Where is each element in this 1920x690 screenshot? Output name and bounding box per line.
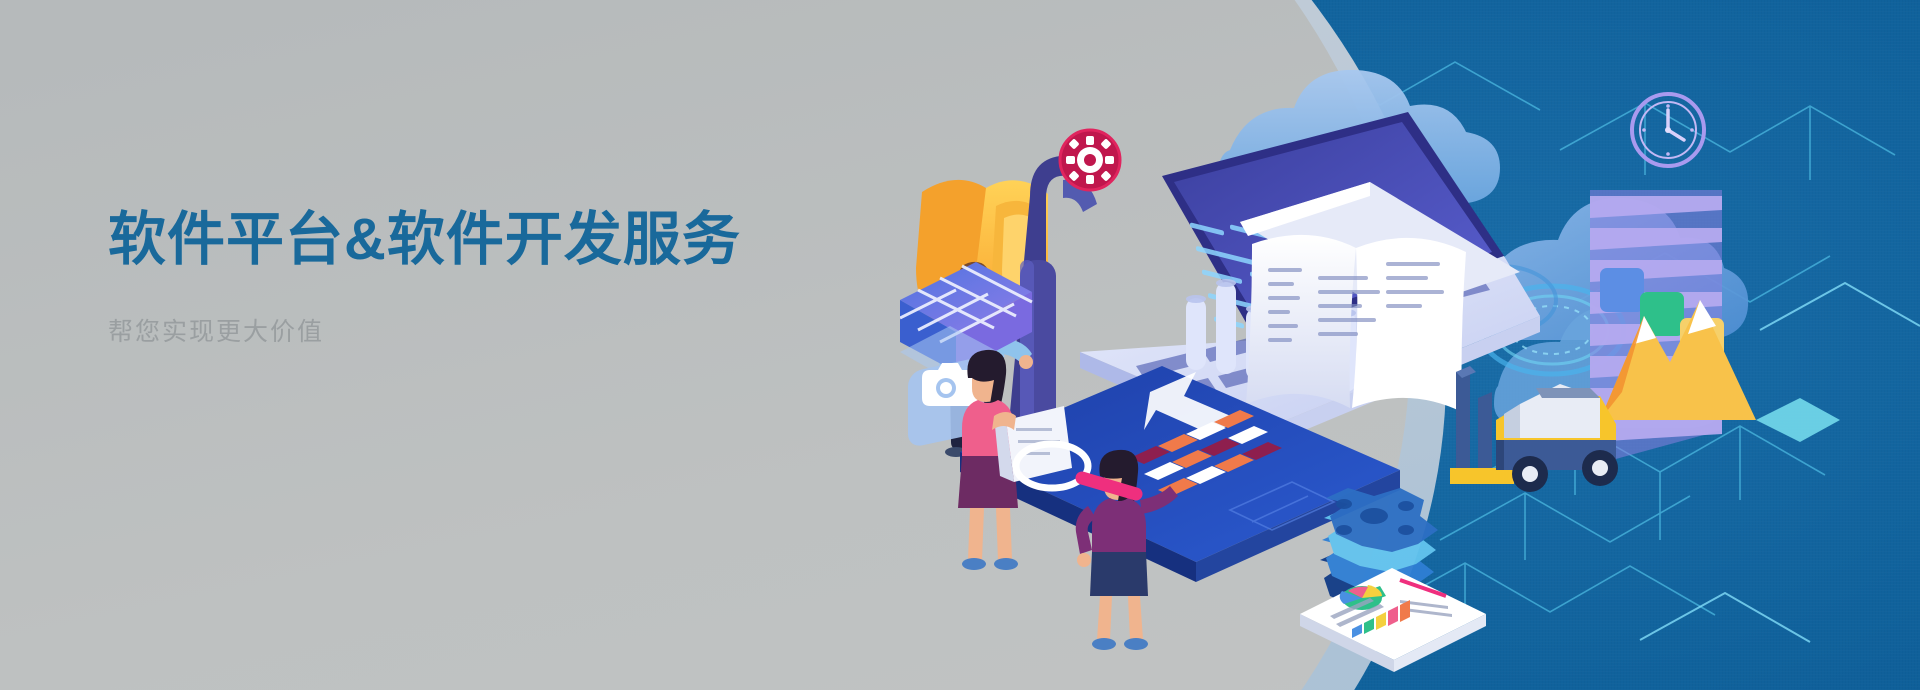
hero-copy-block: 软件平台&软件开发服务 帮您实现更大价值 [108, 206, 741, 348]
hero-illustration [900, 0, 1920, 690]
page-subtitle: 帮您实现更大价值 [108, 312, 741, 348]
page-title: 软件平台&软件开发服务 [108, 206, 741, 274]
hero-banner: 软件平台&软件开发服务 帮您实现更大价值 [0, 0, 1920, 690]
gear-badge-icon [1060, 130, 1120, 190]
clock-icon [1632, 94, 1704, 166]
